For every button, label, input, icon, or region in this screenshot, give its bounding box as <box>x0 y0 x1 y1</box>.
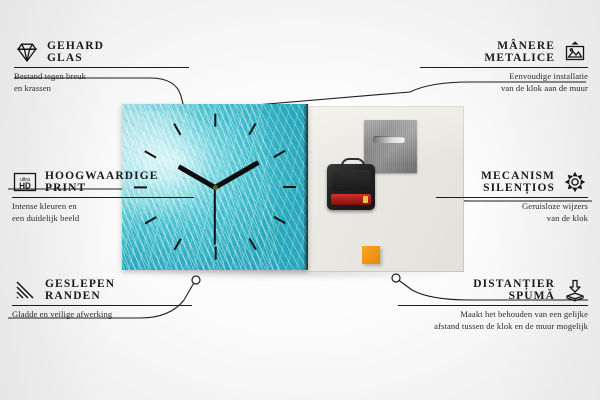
feature-desc-line1: Maakt het behouden van een gelijke <box>398 309 588 321</box>
clock-tick <box>283 186 296 188</box>
foam-spacer <box>362 246 380 264</box>
feature-rule <box>398 305 588 306</box>
diamond-icon <box>14 40 40 64</box>
feature-desc-line2: een duidelijk beeld <box>12 213 194 225</box>
beveled-edges-icon <box>12 278 38 302</box>
feature-rule <box>14 67 189 68</box>
feature-titles: GESLEPEN RANDEN <box>45 278 115 302</box>
feature-desc-line2: van de klok aan de muur <box>420 83 588 95</box>
picture-frame-icon <box>562 40 588 64</box>
metal-hanger-plate <box>364 120 417 173</box>
feature-titles: DISTANȚIER SPUMĂ <box>473 278 555 302</box>
feature-titles: MECANISM SILENȚIOS <box>481 170 555 194</box>
feature-desc: Intense kleuren en een duidelijk beeld <box>12 201 194 224</box>
feature-title-line1: GEHARD <box>47 40 104 52</box>
hands-center-cap <box>213 185 218 190</box>
feature-rule <box>12 305 192 306</box>
feature-titles: HOOGWAARDIGE PRINT <box>45 170 159 194</box>
feature-heading: GESLEPEN RANDEN <box>12 278 192 302</box>
metal-grain <box>364 120 417 173</box>
feature-desc: Eenvoudige installatie van de klok aan d… <box>420 71 588 94</box>
feature-title-line2: SPUMĂ <box>509 290 555 302</box>
feature-titles: GEHARD GLAS <box>47 40 104 64</box>
feature-title-line1: MÂNERE <box>497 40 555 52</box>
infographic-canvas: GEHARD GLAS Bestand tegen breuk en krass… <box>0 0 600 400</box>
feature-desc-line1: Gladde en veilige afwerking <box>12 309 192 321</box>
feature-desc: Bestand tegen breuk en krassen <box>14 71 189 94</box>
feature-title-line1: DISTANȚIER <box>473 278 555 290</box>
feature-desc-line1: Intense kleuren en <box>12 201 194 213</box>
feature-heading: MÂNERE METALICE <box>420 40 588 64</box>
feature-heading: GEHARD GLAS <box>14 40 189 64</box>
feature-desc-line2: en krassen <box>14 83 189 95</box>
feature-desc-line2: van de klok <box>436 213 588 225</box>
feature-title-line2: RANDEN <box>45 290 115 302</box>
hanger-keyhole-slot <box>373 136 405 143</box>
feature-title-line2: METALICE <box>484 52 555 64</box>
feature-desc: Maakt het behouden van een gelijke afsta… <box>398 309 588 332</box>
feature-heading: DISTANȚIER SPUMĂ <box>398 278 588 302</box>
feature-gehard-glas: GEHARD GLAS Bestand tegen breuk en krass… <box>14 40 189 94</box>
glass-edge <box>304 104 308 270</box>
svg-text:HD: HD <box>19 181 31 190</box>
feature-heading: MECANISM SILENȚIOS <box>436 170 588 194</box>
feature-mecanism-silentios: MECANISM SILENȚIOS Ger <box>436 170 588 224</box>
movement-hanger-loop <box>341 158 365 169</box>
feature-title-line2: SILENȚIOS <box>483 182 555 194</box>
spacer-arrow-icon <box>562 278 588 302</box>
clock-tick <box>214 114 216 127</box>
gear-icon <box>562 170 588 194</box>
feature-title-line2: PRINT <box>45 182 159 194</box>
feature-desc-line1: Geruisloze wijzers <box>436 201 588 213</box>
feature-title-line1: MECANISM <box>481 170 555 182</box>
ultra-hd-icon: ultra HD <box>12 170 38 194</box>
feature-rule <box>420 67 588 68</box>
feature-manere-metalice: MÂNERE METALICE Eenvoudige installatie v… <box>420 40 588 94</box>
feature-title-line2: GLAS <box>47 52 104 64</box>
feature-desc: Gladde en veilige afwerking <box>12 309 192 321</box>
feature-heading: ultra HD HOOGWAARDIGE PRINT <box>12 170 194 194</box>
feature-hoogwaardige-print: ultra HD HOOGWAARDIGE PRINT Intense kleu… <box>12 170 194 224</box>
feature-geslepen-randen: GESLEPEN RANDEN Gladde en veilige afwerk… <box>12 278 192 321</box>
second-hand <box>214 187 216 245</box>
feature-distantier-spuma: DISTANȚIER SPUMĂ Maakt het behouden van … <box>398 278 588 332</box>
feature-desc: Geruisloze wijzers van de klok <box>436 201 588 224</box>
feature-rule <box>12 197 194 198</box>
movement-body <box>332 170 370 191</box>
feature-desc-line1: Bestand tegen breuk <box>14 71 189 83</box>
clock-tick <box>214 247 216 260</box>
feature-title-line1: GESLEPEN <box>45 278 115 290</box>
feature-titles: MÂNERE METALICE <box>484 40 555 64</box>
quartz-movement <box>327 164 375 210</box>
feature-desc-line1: Eenvoudige installatie <box>420 71 588 83</box>
feature-title-line1: HOOGWAARDIGE <box>45 170 159 182</box>
feature-rule <box>436 197 588 198</box>
feature-desc-line2: afstand tussen de klok en de muur mogeli… <box>398 321 588 333</box>
aa-battery <box>331 194 371 205</box>
